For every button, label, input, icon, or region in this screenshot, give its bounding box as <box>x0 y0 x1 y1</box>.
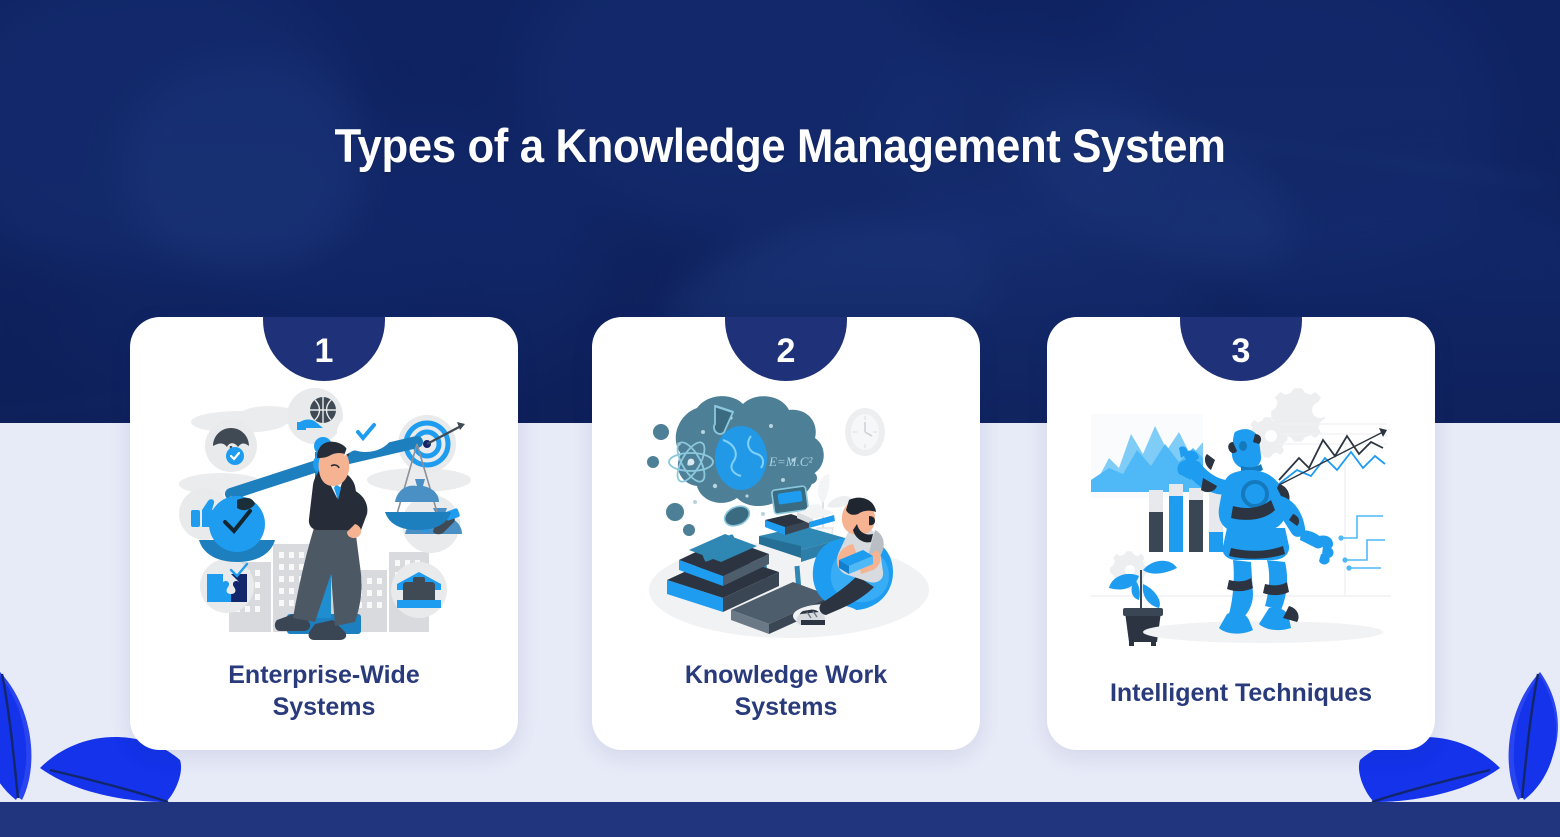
svg-text:E=M.C²: E=M.C² <box>768 454 813 469</box>
illustration-robot-analytics <box>1047 379 1435 651</box>
card-intelligent-techniques[interactable]: 3 <box>1047 317 1435 750</box>
card-label: Knowledge Work Systems <box>614 659 958 723</box>
wall-clock-icon <box>845 408 885 456</box>
card-label: Enterprise-Wide Systems <box>152 659 496 723</box>
card-knowledge-work-systems[interactable]: 2 <box>592 317 980 750</box>
page-title: Types of a Knowledge Management System <box>55 118 1506 173</box>
card-label: Intelligent Techniques <box>1069 677 1413 709</box>
footer-bar <box>0 802 1560 837</box>
card-enterprise-wide-systems[interactable]: 1 <box>130 317 518 750</box>
card-label-line2: Systems <box>273 693 376 721</box>
card-label-line2: Systems <box>735 693 838 721</box>
card-label-line1: Enterprise-Wide <box>228 661 419 689</box>
circuit-traces <box>1343 516 1385 568</box>
infographic-canvas: Types of a Knowledge Management System 1 <box>0 0 1560 837</box>
card-label-line1: Knowledge Work <box>685 661 887 689</box>
card-label-line1: Intelligent Techniques <box>1110 679 1372 707</box>
tablet-icon <box>771 486 808 514</box>
illustration-businessman-balance-scale: $ <box>130 379 518 651</box>
illustration-man-reading-thought-cloud: E=M.C² <box>592 379 980 651</box>
globe-icon <box>715 426 767 490</box>
